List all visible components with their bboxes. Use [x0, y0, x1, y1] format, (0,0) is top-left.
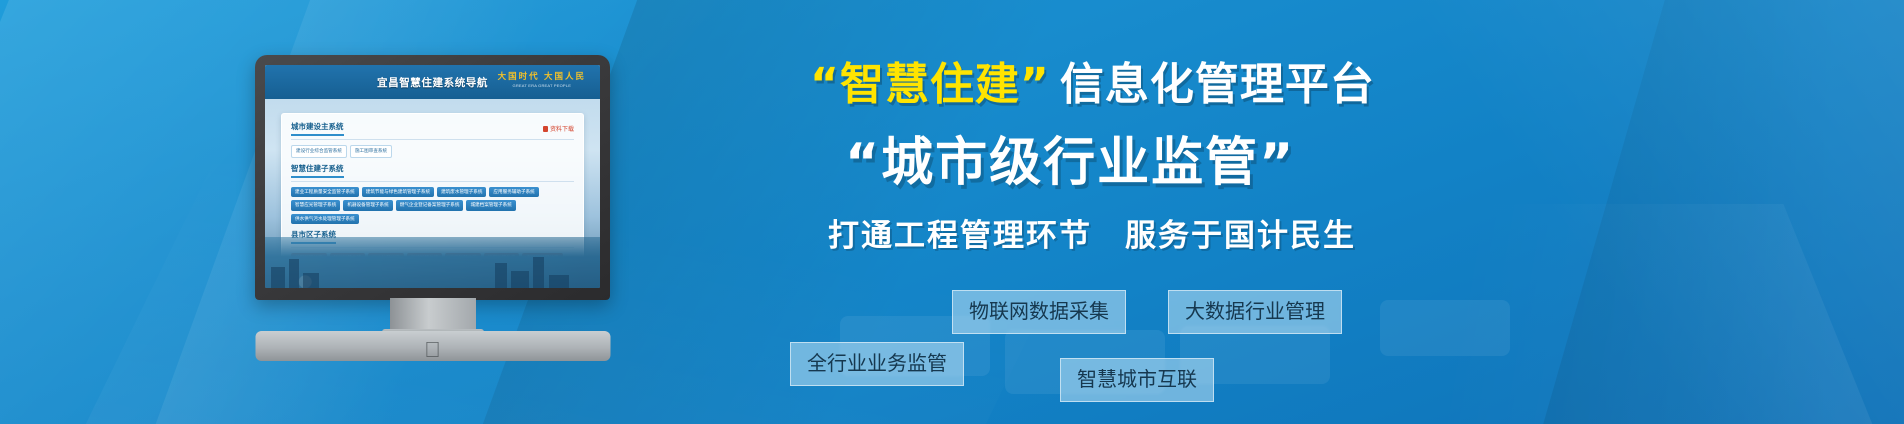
banner-copy: “智慧住建” 信息化管理平台 “城市级行业监管” 打通工程管理环节 服务于国计民… — [0, 0, 1904, 424]
tag-bigdata-mgmt[interactable]: 大数据行业管理 — [1168, 290, 1342, 334]
promo-banner: 宜昌智慧住建系统导航 大国时代 大国人民 GREAT ERA GREAT PEO… — [0, 0, 1904, 424]
headline-line-2: “城市级行业监管” — [845, 120, 1295, 195]
headline-rest-white: 信息化管理平台 — [1060, 48, 1375, 112]
tag-smart-city[interactable]: 智慧城市互联 — [1060, 358, 1214, 402]
headline-quoted-yellow: “智慧住建” — [810, 48, 1050, 112]
headline-line-1: “智慧住建” 信息化管理平台 — [810, 48, 1510, 112]
tag-iot-data[interactable]: 物联网数据采集 — [952, 290, 1126, 334]
tag-all-industry[interactable]: 全行业业务监管 — [790, 342, 964, 386]
headline-line-3: 打通工程管理环节 服务于国计民生 — [828, 210, 1356, 255]
